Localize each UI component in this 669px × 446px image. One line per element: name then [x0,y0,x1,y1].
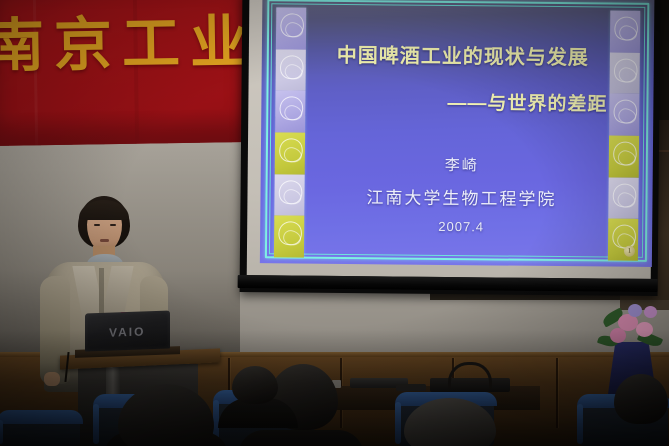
decor-tile [609,52,639,94]
decor-tile [274,174,304,216]
speaker-eye [94,224,100,226]
blossom [644,306,657,318]
decor-tile [275,91,305,133]
blossom [610,328,626,343]
slide-author: 李崎 [317,156,607,177]
screen-bottom-bar [238,275,658,292]
decor-tile [276,49,306,91]
blossom [628,304,642,317]
audience-head [614,374,668,424]
slide-page-number: 1 [624,246,635,257]
decor-tile [276,7,306,49]
decor-strip-right [608,11,640,261]
decor-tile [610,11,640,53]
presentation-slide: 中国啤酒工业的现状与发展 ——与世界的差距 李崎 江南大学生物工程学院 2007… [260,0,655,267]
screen-surface: 中国啤酒工业的现状与发展 ——与世界的差距 李崎 江南大学生物工程学院 2007… [247,0,654,279]
decor-tile [274,216,304,258]
banner-text: 南京工业 [0,12,254,78]
slide-affiliation: 江南大学生物工程学院 [306,188,616,211]
photo-scene: 南京工业 [0,0,669,446]
speaker-hand [44,372,60,386]
speaker-eye [110,224,116,226]
blossom [636,322,653,337]
projection-screen: 中国啤酒工业的现状与发展 ——与世界的差距 李崎 江南大学生物工程学院 2007… [240,0,661,296]
decor-strip-left [274,7,306,257]
audience-head [232,366,278,404]
slide-subtitle: ——与世界的差距 [317,91,619,117]
slide-date: 2007.4 [316,218,606,237]
audience-chair [0,414,80,446]
vaio-laptop: VAIO [85,312,170,357]
slide-title: 中国啤酒工业的现状与发展 [318,44,608,71]
laptop-brand-logo: VAIO [109,325,149,338]
decor-tile [275,132,305,174]
equipment-device [396,384,426,391]
audience-shoulders [238,430,364,446]
decor-tile [609,136,639,178]
speaker-mouth [100,239,109,242]
